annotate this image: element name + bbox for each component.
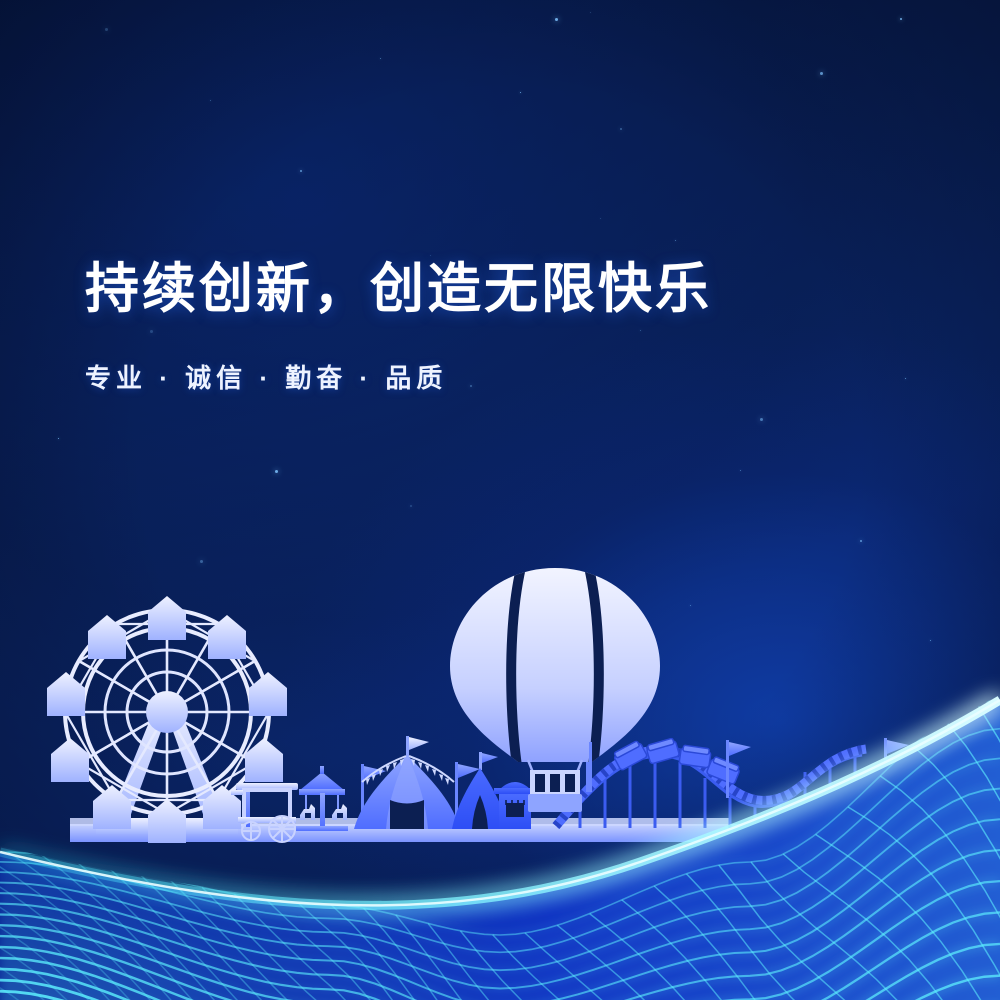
page-title: 持续创新，创造无限快乐 [85,258,712,320]
poster-canvas: 0% [0,0,1000,1000]
text-block: 持续创新，创造无限快乐 专业 · 诚信 · 勤奋 · 品质 [85,258,712,395]
page-subtitle: 专业 · 诚信 · 勤奋 · 品质 [85,358,712,395]
glowing-mesh-wave [0,0,1000,1000]
